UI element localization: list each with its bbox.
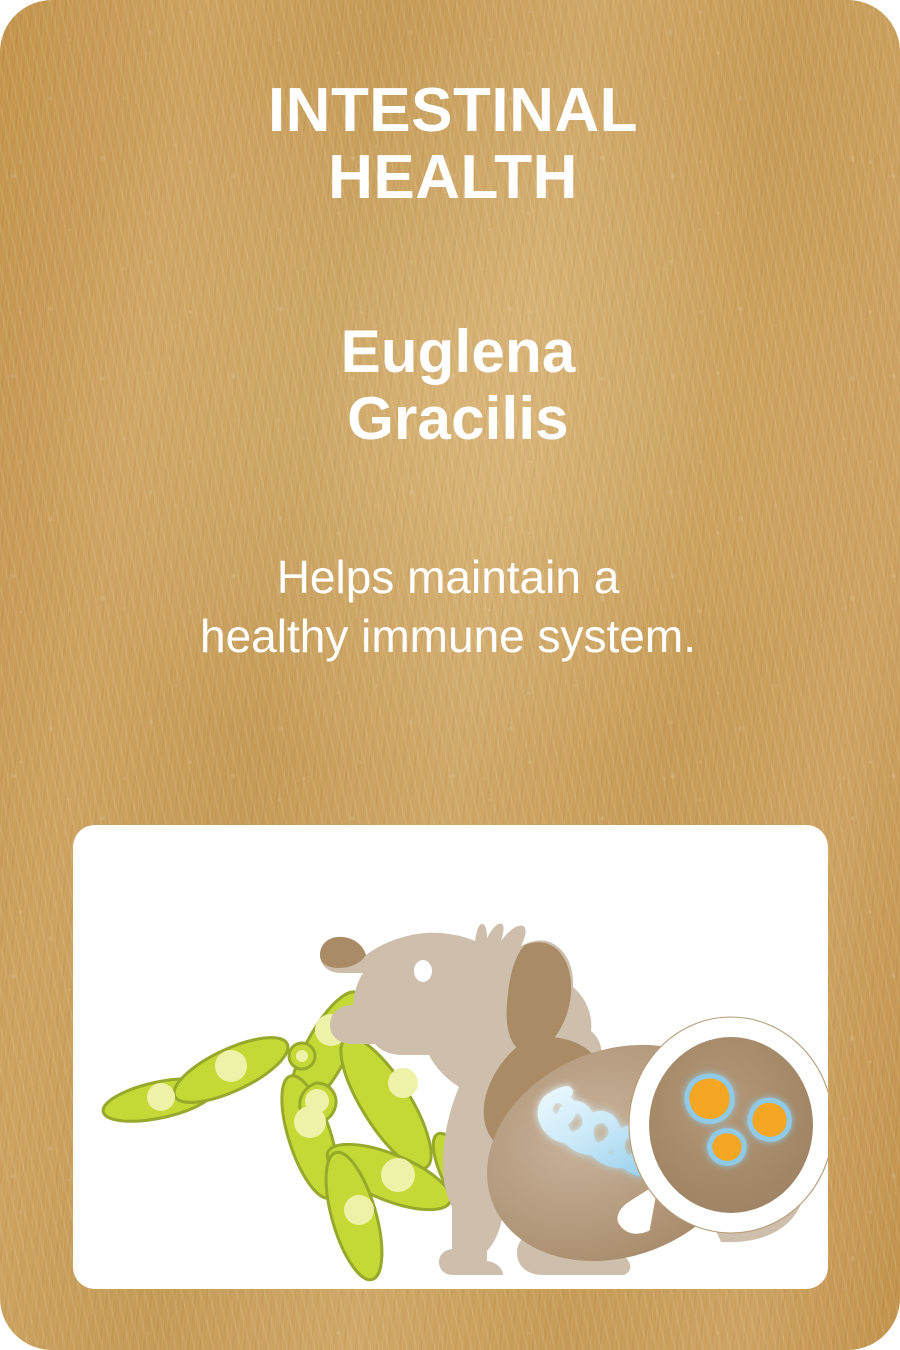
card-text-block: INTESTINAL HEALTH Euglena Gracilis Helps… bbox=[0, 0, 900, 666]
ingredient-name: Euglena Gracilis bbox=[8, 212, 900, 452]
benefit-card: INTESTINAL HEALTH Euglena Gracilis Helps… bbox=[0, 0, 900, 1350]
benefit-illustration bbox=[73, 825, 828, 1289]
benefit-tagline: Helps maintain a healthy immune system. bbox=[0, 452, 898, 666]
illustration-panel bbox=[73, 825, 828, 1289]
page-title: INTESTINAL HEALTH bbox=[3, 0, 900, 212]
